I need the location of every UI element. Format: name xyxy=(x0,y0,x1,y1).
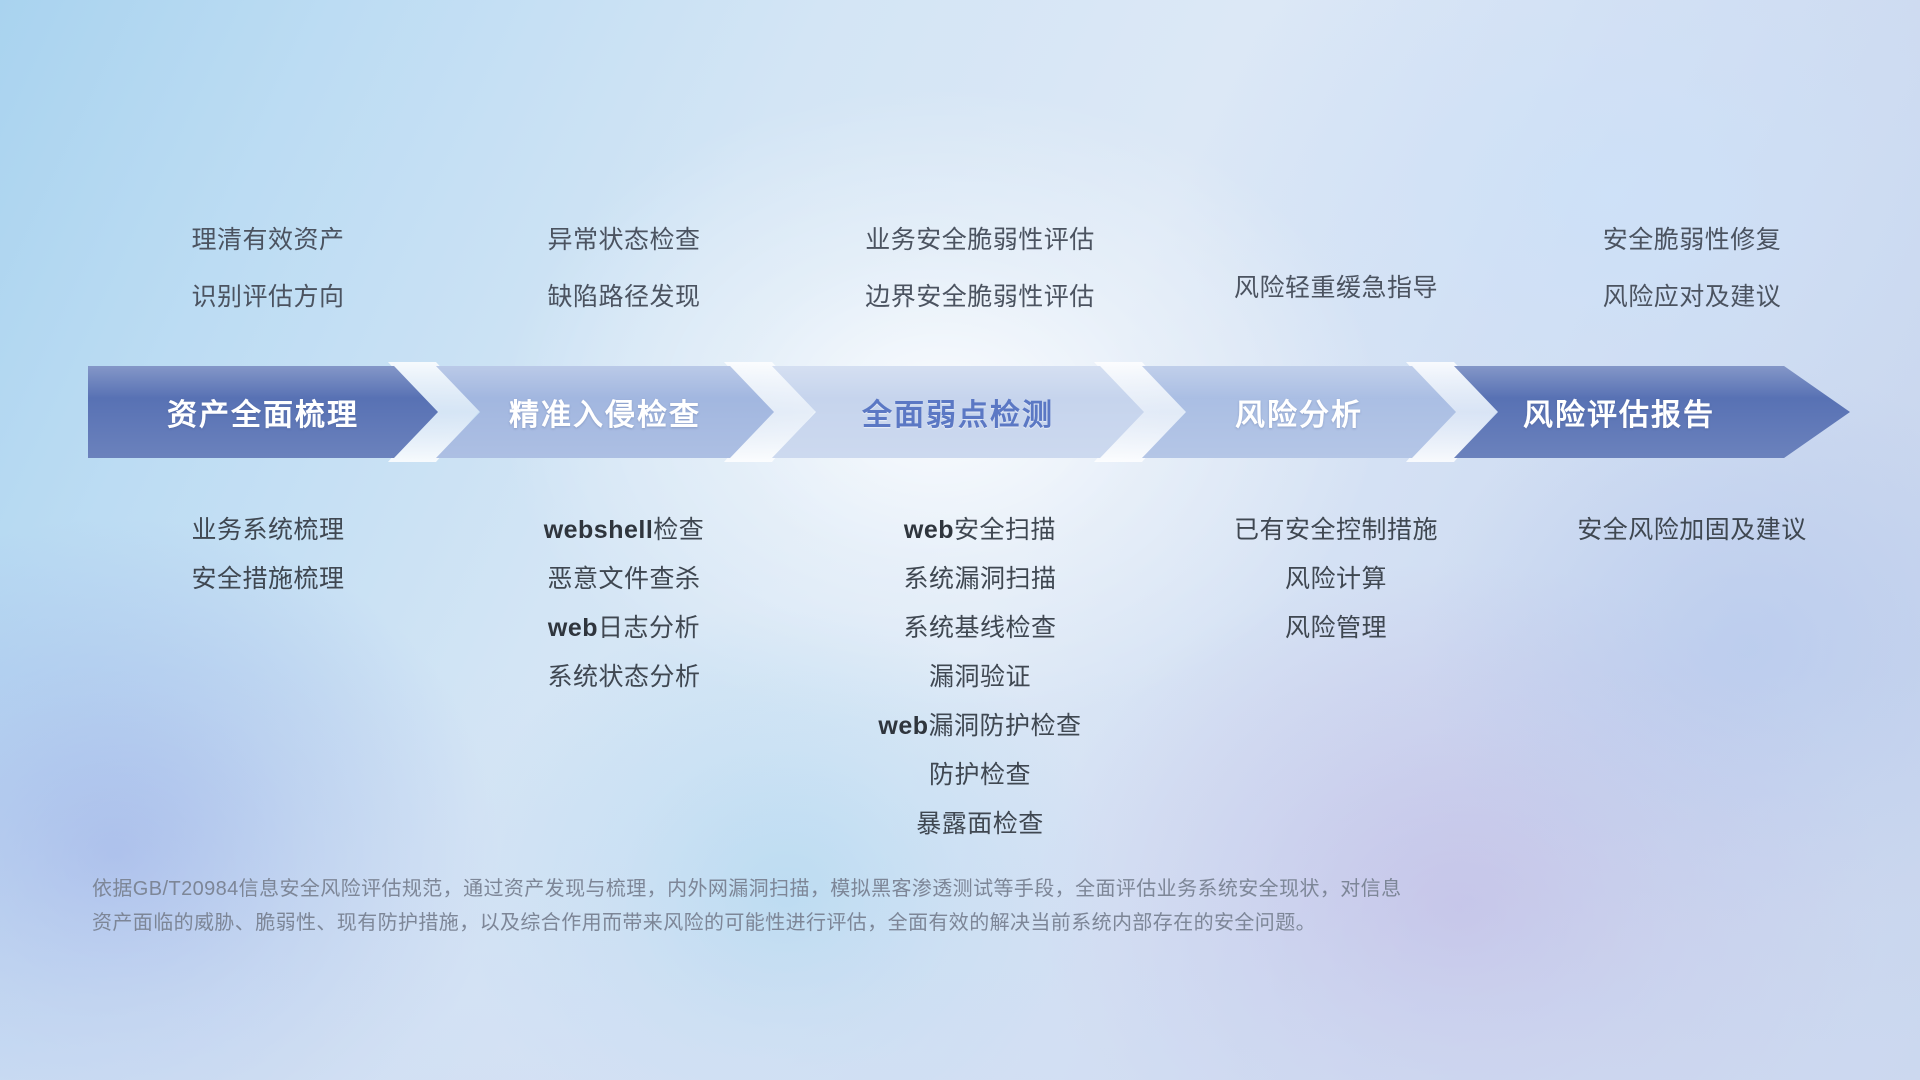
top-note: 异常状态检查 xyxy=(446,228,802,253)
bottom-note-text: 风险管理 xyxy=(1285,614,1387,642)
stage-chevron-banner: 资产全面梳理 精准入侵检查 全面弱点检测 风险分析 风险评估报告 xyxy=(88,366,1850,458)
bottom-note-text: 已有安全控制措施 xyxy=(1234,516,1438,544)
bottom-note: web日志分析 xyxy=(446,616,802,641)
bottom-note-text: 检查 xyxy=(653,516,704,544)
bottom-note: 系统基线检查 xyxy=(802,616,1158,641)
bottom-note: webshell检查 xyxy=(446,518,802,543)
top-note: 缺陷路径发现 xyxy=(446,285,802,310)
bottom-note: 风险管理 xyxy=(1158,616,1514,641)
bottom-notes-row: 业务系统梳理 安全措施梳理 webshell检查 恶意文件查杀 web日志分析 … xyxy=(90,518,1870,861)
top-notes-column-5: 安全脆弱性修复 风险应对及建议 xyxy=(1514,228,1870,310)
top-notes-column-4: 风险轻重缓急指导 xyxy=(1158,228,1514,310)
top-notes-column-1: 理清有效资产 识别评估方向 xyxy=(90,228,446,310)
bottom-note-text: 系统状态分析 xyxy=(547,663,700,691)
bottom-note: web安全扫描 xyxy=(802,518,1158,543)
chevron-stage-risk-analysis[interactable] xyxy=(1142,366,1456,458)
top-note: 风险轻重缓急指导 xyxy=(1158,276,1514,301)
bottom-note-text: 系统基线检查 xyxy=(903,614,1056,642)
bottom-note-text: 风险计算 xyxy=(1285,565,1387,593)
footer-line-2: 资产面临的威胁、脆弱性、现有防护措施，以及综合作用而带来风险的可能性进行评估，全… xyxy=(92,906,1612,940)
bottom-note-text: 暴露面检查 xyxy=(916,810,1044,838)
top-notes-column-2: 异常状态检查 缺陷路径发现 xyxy=(446,228,802,310)
bottom-note-bold: web xyxy=(548,614,598,642)
bottom-note-text: 漏洞防护检查 xyxy=(929,712,1082,740)
top-note: 识别评估方向 xyxy=(90,285,446,310)
bottom-note-bold: webshell xyxy=(544,516,654,544)
footer-line-1: 依据GB/T20984信息安全风险评估规范，通过资产发现与梳理，内外网漏洞扫描，… xyxy=(92,872,1612,906)
process-diagram: 理清有效资产 识别评估方向 异常状态检查 缺陷路径发现 业务安全脆弱性评估 边界… xyxy=(0,0,1920,1080)
top-notes-column-3: 业务安全脆弱性评估 边界安全脆弱性评估 xyxy=(802,228,1158,310)
bottom-note: 已有安全控制措施 xyxy=(1158,518,1514,543)
bottom-note-bold: web xyxy=(878,712,928,740)
bottom-notes-column-2: webshell检查 恶意文件查杀 web日志分析 系统状态分析 xyxy=(446,518,802,861)
bottom-note-bold: web xyxy=(904,516,954,544)
bottom-note-text: 漏洞验证 xyxy=(929,663,1031,691)
footer-description: 依据GB/T20984信息安全风险评估规范，通过资产发现与梳理，内外网漏洞扫描，… xyxy=(92,872,1612,940)
bottom-note: 恶意文件查杀 xyxy=(446,567,802,592)
bottom-note-text: 防护检查 xyxy=(929,761,1031,789)
top-note: 理清有效资产 xyxy=(90,228,446,253)
bottom-note: 漏洞验证 xyxy=(802,665,1158,690)
bottom-notes-column-1: 业务系统梳理 安全措施梳理 xyxy=(90,518,446,861)
bottom-note-text: 安全风险加固及建议 xyxy=(1577,516,1807,544)
bottom-note: 暴露面检查 xyxy=(802,812,1158,837)
bottom-note-text: 安全扫描 xyxy=(954,516,1056,544)
bottom-note-text: 日志分析 xyxy=(598,614,700,642)
chevron-stage-weakness-detection[interactable] xyxy=(772,366,1144,458)
top-notes-row: 理清有效资产 识别评估方向 异常状态检查 缺陷路径发现 业务安全脆弱性评估 边界… xyxy=(90,228,1870,310)
bottom-note: 系统状态分析 xyxy=(446,665,802,690)
chevron-svg xyxy=(88,366,1850,458)
bottom-note: 安全风险加固及建议 xyxy=(1514,518,1870,543)
chevron-stage-intrusion-check[interactable] xyxy=(436,366,774,458)
bottom-notes-column-5: 安全风险加固及建议 xyxy=(1514,518,1870,861)
chevron-stage-assessment-report[interactable] xyxy=(1454,366,1850,458)
bottom-note: 系统漏洞扫描 xyxy=(802,567,1158,592)
bottom-note: web漏洞防护检查 xyxy=(802,714,1158,739)
top-note: 边界安全脆弱性评估 xyxy=(802,285,1158,310)
top-note: 业务安全脆弱性评估 xyxy=(802,228,1158,253)
bottom-note: 业务系统梳理 xyxy=(90,518,446,543)
bottom-note-text: 安全措施梳理 xyxy=(191,565,344,593)
top-note: 安全脆弱性修复 xyxy=(1514,228,1870,253)
bottom-note: 风险计算 xyxy=(1158,567,1514,592)
bottom-note: 防护检查 xyxy=(802,763,1158,788)
bottom-note: 安全措施梳理 xyxy=(90,567,446,592)
bottom-notes-column-4: 已有安全控制措施 风险计算 风险管理 xyxy=(1158,518,1514,861)
bottom-note-text: 恶意文件查杀 xyxy=(547,565,700,593)
bottom-note-text: 系统漏洞扫描 xyxy=(903,565,1056,593)
bottom-note-text: 业务系统梳理 xyxy=(191,516,344,544)
chevron-stage-asset-inventory[interactable] xyxy=(88,366,438,458)
top-note: 风险应对及建议 xyxy=(1514,285,1870,310)
bottom-notes-column-3: web安全扫描 系统漏洞扫描 系统基线检查 漏洞验证 web漏洞防护检查 防护检… xyxy=(802,518,1158,861)
